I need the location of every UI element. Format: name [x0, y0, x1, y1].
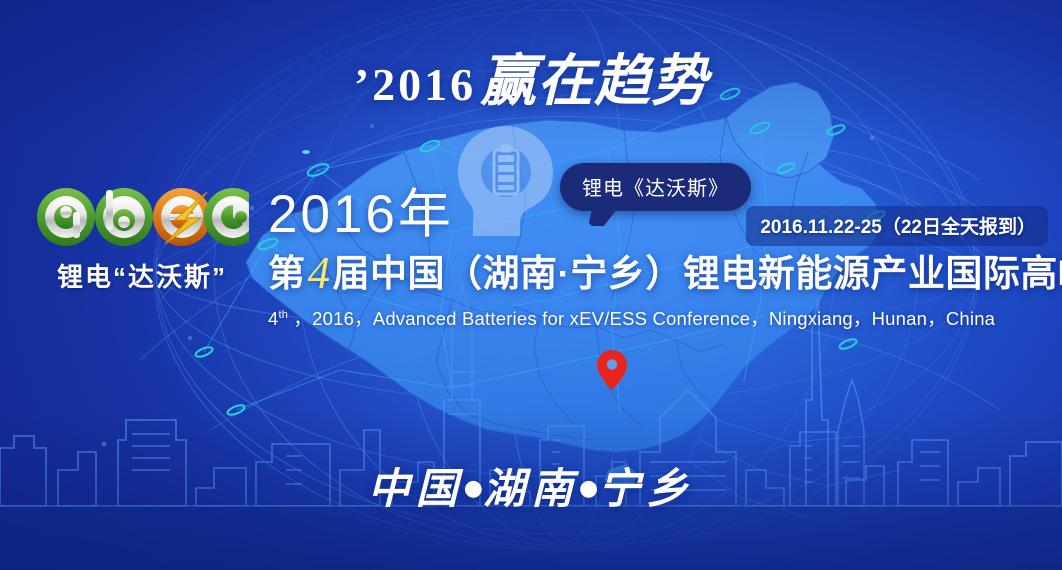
main-title-suffix: 届中国（湖南·宁乡）锂电新能源产业国际高峰论坛: [333, 253, 1062, 294]
location-separator-1: ●: [464, 476, 483, 501]
logo-subtitle: 锂电“达沃斯”: [26, 257, 258, 294]
logo-letter-e: [153, 188, 211, 246]
year-line: 2016年: [268, 188, 1044, 241]
logo-letter-a: [37, 188, 95, 246]
subtitle-rest: ，2016，Advanced Batteries for xEV/ESS Con…: [288, 308, 995, 329]
english-subtitle: 4th ，2016，Advanced Batteries for xEV/ESS…: [268, 305, 1044, 331]
location-province: 湖南: [483, 464, 579, 513]
subtitle-ordinal-suffix: th: [279, 309, 289, 321]
subtitle-ordinal: 4: [268, 308, 279, 329]
edition-number: 4: [306, 248, 333, 298]
top-slogan: ’2016赢在趋势: [0, 36, 1062, 117]
title-block: 2016年 第4届中国（湖南·宁乡）锂电新能源产业国际高峰论坛 4th ，201…: [268, 188, 1044, 331]
abec-wordmark-icon: [35, 186, 249, 248]
main-title: 第4届中国（湖南·宁乡）锂电新能源产业国际高峰论坛: [268, 250, 1044, 298]
slogan-phrase: 赢在趋势: [480, 49, 708, 114]
main-title-prefix: 第: [268, 253, 306, 294]
location-city: 宁乡: [598, 464, 694, 513]
conference-banner: ’2016赢在趋势: [0, 0, 1062, 570]
map-pin-icon: [597, 350, 627, 390]
slogan-year: ’2016: [354, 59, 476, 110]
location-separator-2: ●: [579, 476, 598, 501]
location-country: 中国: [368, 464, 464, 513]
location-line: 中国●湖南●宁乡: [0, 455, 1062, 516]
logo-letter-b: [95, 188, 153, 246]
abec-logo[interactable]: 锂电“达沃斯”: [26, 186, 258, 294]
logo-letter-c: [204, 188, 249, 246]
